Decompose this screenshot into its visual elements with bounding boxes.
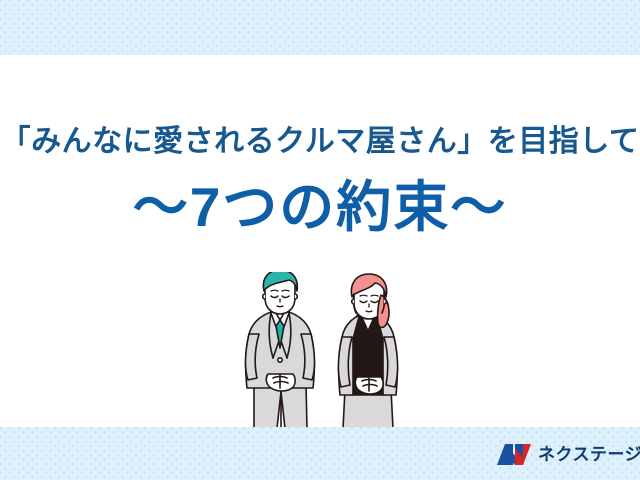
nextage-n-mark-icon — [497, 442, 531, 467]
nextage-logo-text: ネクステージ — [538, 446, 640, 463]
headline-line-2: 〜7つの約束〜 — [0, 176, 640, 239]
slide-canvas: 「みんなに愛されるクルマ屋さん」を目指して 〜7つの約束〜 — [0, 0, 640, 480]
top-dotted-band — [0, 0, 640, 55]
headline-line-1: 「みんなに愛されるクルマ屋さん」を目指して — [0, 124, 640, 160]
male-staff-figure — [245, 272, 314, 428]
nextage-logo: ネクステージ — [497, 440, 640, 468]
two-bowing-staff-illustration — [235, 272, 415, 432]
female-staff-figure — [338, 274, 397, 429]
staff-illustration-svg — [235, 272, 415, 432]
